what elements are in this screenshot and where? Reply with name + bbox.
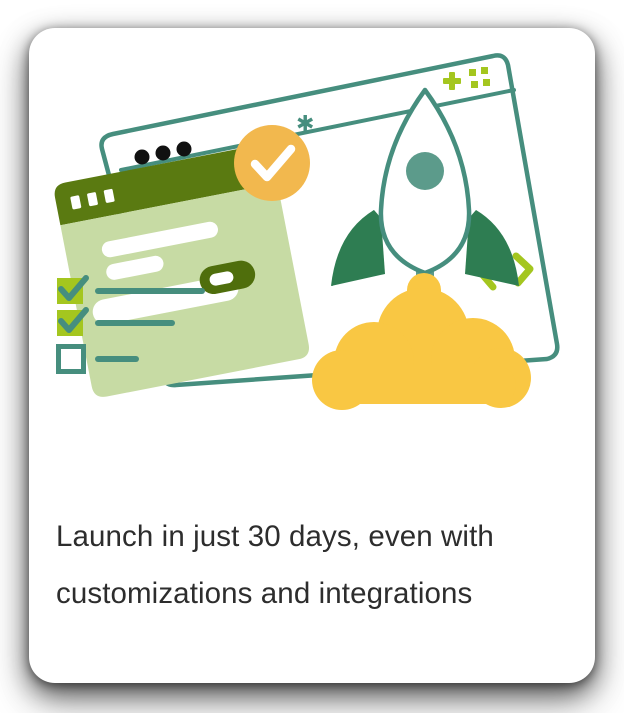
feature-card: ✱ [29, 28, 595, 683]
rocket-launch-illustration: ✱ [29, 28, 595, 458]
rocket-porthole [406, 152, 444, 190]
approval-check-badge [234, 125, 310, 201]
checkbox-empty-icon [59, 347, 84, 372]
svg-text:✱: ✱ [296, 112, 314, 137]
checklist-line [95, 356, 139, 362]
screenshot-root: ✱ [0, 0, 624, 713]
page-title: Launch in just 30 days, even with custom… [56, 508, 556, 622]
checklist-line [95, 320, 175, 326]
checklist-line [95, 288, 205, 294]
asterisk-decoration: ✱ [296, 112, 314, 137]
